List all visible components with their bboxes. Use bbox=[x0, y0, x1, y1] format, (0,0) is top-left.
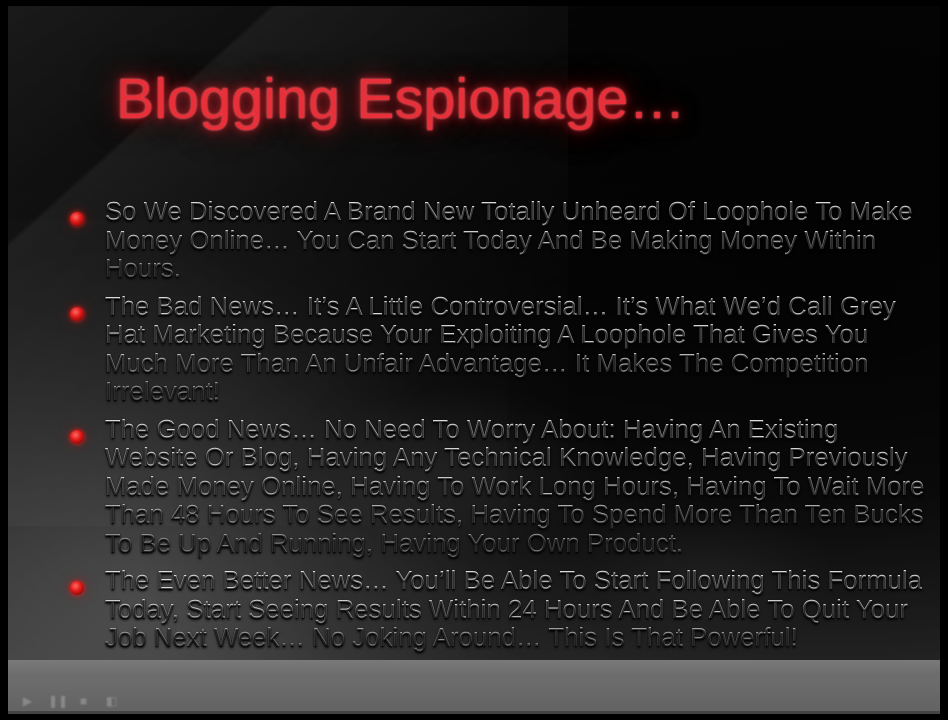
bullet-item: The Good News… No Need To Worry About: H… bbox=[70, 416, 930, 559]
volume-icon[interactable]: ◧ bbox=[104, 695, 119, 708]
bullet-dot-icon bbox=[70, 581, 84, 595]
frame-edge-bottom bbox=[0, 714, 948, 720]
slide-title: Blogging Espionage… bbox=[116, 66, 686, 132]
bullet-dot-icon bbox=[70, 307, 84, 321]
frame-edge-right bbox=[940, 0, 948, 720]
bullet-item-text: The Bad News… It’s A Little Controversia… bbox=[105, 293, 930, 407]
video-player-frame: Blogging Espionage… So We Discovered A B… bbox=[0, 0, 948, 720]
bullet-dot-icon bbox=[70, 212, 84, 226]
bullet-list: So We Discovered A Brand New Totally Unh… bbox=[70, 198, 930, 660]
player-control-bar[interactable]: ▶ ❚❚ ■ ◧ bbox=[8, 660, 940, 714]
bullet-item: The Bad News… It’s A Little Controversia… bbox=[70, 293, 930, 407]
frame-edge-top bbox=[0, 0, 948, 6]
play-icon[interactable]: ▶ bbox=[20, 695, 35, 708]
bullet-item: So We Discovered A Brand New Totally Unh… bbox=[70, 198, 930, 284]
bullet-dot-icon bbox=[70, 430, 84, 444]
stop-icon[interactable]: ■ bbox=[76, 695, 91, 708]
pause-icon[interactable]: ❚❚ bbox=[48, 695, 63, 708]
bullet-item-text: The Good News… No Need To Worry About: H… bbox=[105, 416, 930, 559]
bullet-item-text: So We Discovered A Brand New Totally Unh… bbox=[105, 198, 930, 284]
frame-edge-left bbox=[0, 0, 8, 720]
player-controls-group[interactable]: ▶ ❚❚ ■ ◧ bbox=[20, 695, 119, 708]
presentation-slide: Blogging Espionage… So We Discovered A B… bbox=[8, 6, 940, 660]
player-bar-sheen bbox=[8, 660, 940, 674]
bullet-item-text: The Even Better News… You’ll Be Able To … bbox=[105, 567, 930, 653]
bullet-item: The Even Better News… You’ll Be Able To … bbox=[70, 567, 930, 653]
